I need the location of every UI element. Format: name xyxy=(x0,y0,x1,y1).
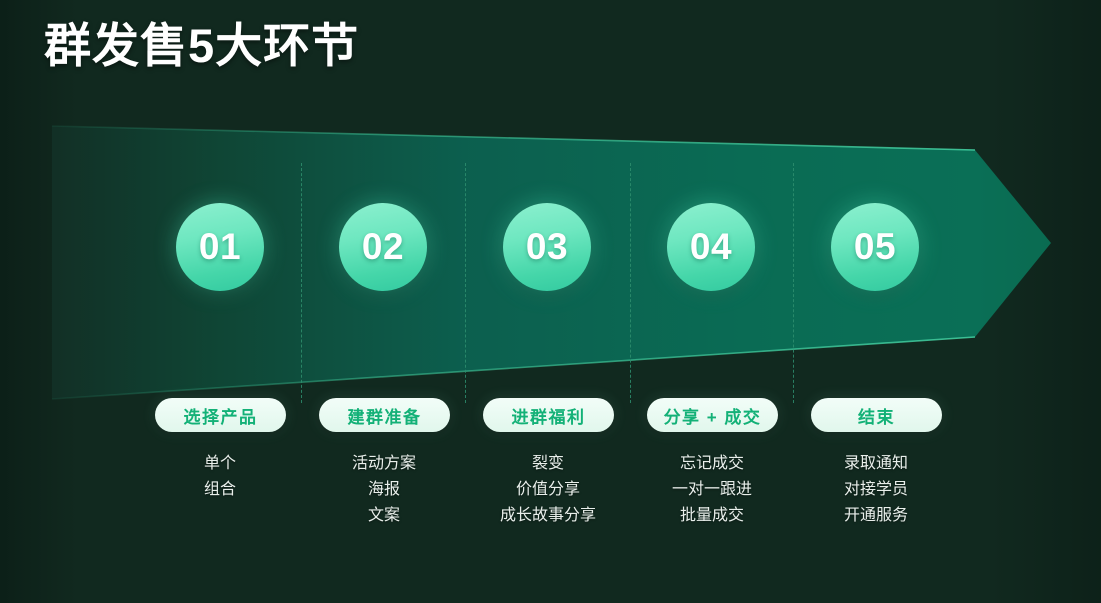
step-pill-01[interactable]: 选择产品 xyxy=(155,398,286,432)
desc-line: 单个 xyxy=(204,451,236,477)
step-pill-02[interactable]: 建群准备 xyxy=(319,398,450,432)
step-desc-03: 裂变 价值分享 成长故事分享 xyxy=(500,451,596,529)
step-desc-04: 忘记成交 一对一跟进 批量成交 xyxy=(672,451,752,529)
desc-line: 活动方案 xyxy=(352,451,416,477)
step-pill-03[interactable]: 进群福利 xyxy=(483,398,614,432)
step-pill-label: 进群福利 xyxy=(512,403,586,428)
desc-line: 录取通知 xyxy=(844,451,908,477)
step-desc-05: 录取通知 对接学员 开通服务 xyxy=(844,451,908,529)
step-pill-05[interactable]: 结束 xyxy=(811,398,942,432)
step-circle-04[interactable]: 04 xyxy=(667,203,755,291)
step-pill-label: 结束 xyxy=(858,403,895,428)
step-pill-04[interactable]: 分享 + 成交 xyxy=(647,398,778,432)
divider-1 xyxy=(301,163,302,403)
divider-2 xyxy=(465,163,466,403)
step-pill-label: 分享 + 成交 xyxy=(664,403,762,428)
step-circle-01[interactable]: 01 xyxy=(176,203,264,291)
desc-line: 组合 xyxy=(204,477,236,503)
step-desc-01: 单个 组合 xyxy=(204,451,236,503)
page-title: 群发售5大环节 xyxy=(44,17,359,74)
desc-line: 成长故事分享 xyxy=(500,503,596,529)
desc-line: 对接学员 xyxy=(844,477,908,503)
desc-line: 一对一跟进 xyxy=(672,477,752,503)
divider-4 xyxy=(793,163,794,403)
slide-canvas: 群发售5大环节 01 选择产品 单个 组合 02 建群准备 活动方案 海报 文案… xyxy=(0,0,1101,603)
step-circle-02[interactable]: 02 xyxy=(339,203,427,291)
desc-line: 裂变 xyxy=(500,451,596,477)
step-number: 05 xyxy=(854,226,896,268)
divider-3 xyxy=(630,163,631,403)
step-number: 01 xyxy=(199,226,241,268)
step-pill-label: 建群准备 xyxy=(348,403,422,428)
step-circle-03[interactable]: 03 xyxy=(503,203,591,291)
desc-line: 海报 xyxy=(352,477,416,503)
step-pill-label: 选择产品 xyxy=(184,403,258,428)
step-number: 03 xyxy=(526,226,568,268)
desc-line: 批量成交 xyxy=(672,503,752,529)
desc-line: 开通服务 xyxy=(844,503,908,529)
step-circle-05[interactable]: 05 xyxy=(831,203,919,291)
desc-line: 价值分享 xyxy=(500,477,596,503)
step-number: 04 xyxy=(690,226,732,268)
step-desc-02: 活动方案 海报 文案 xyxy=(352,451,416,529)
desc-line: 文案 xyxy=(352,503,416,529)
desc-line: 忘记成交 xyxy=(672,451,752,477)
step-number: 02 xyxy=(362,226,404,268)
